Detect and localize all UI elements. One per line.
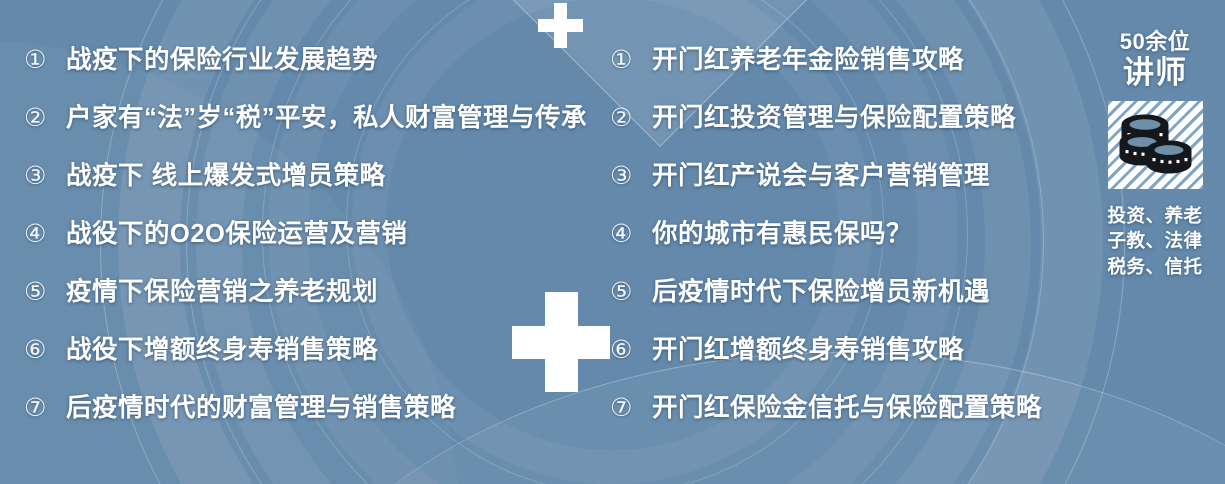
course-item[interactable]: ④ 战役下的O2O保险运营及营销 — [24, 213, 592, 271]
course-number: ② — [610, 103, 652, 133]
course-item[interactable]: ④ 你的城市有惠民保吗？ — [610, 213, 1085, 271]
course-item[interactable]: ② 开门红投资管理与保险配置策略 — [610, 97, 1085, 155]
course-list-banner: ① 战疫下的保险行业发展趋势 ② 户家有“法”岁“税”平安，私人财富管理与传承 … — [0, 0, 1225, 484]
course-item[interactable]: ⑦ 后疫情时代的财富管理与销售策略 — [24, 387, 592, 445]
course-title: 开门红投资管理与保险配置策略 — [652, 97, 1016, 134]
course-number: ⑤ — [610, 277, 652, 307]
course-title: 后疫情时代的财富管理与销售策略 — [66, 387, 456, 424]
course-item[interactable]: ② 户家有“法”岁“税”平安，私人财富管理与传承 — [24, 97, 592, 155]
lecturer-categories: 投资、养老 子教、法律 税务、信托 — [1107, 203, 1202, 280]
course-number: ② — [24, 103, 66, 133]
course-item[interactable]: ⑥ 战役下增额终身寿销售策略 — [24, 329, 592, 387]
course-title: 户家有“法”岁“税”平安，私人财富管理与传承 — [66, 97, 587, 134]
course-number: ⑦ — [24, 393, 66, 423]
lecturer-sidebar: 50余位 讲师 — [1085, 0, 1225, 484]
course-title: 战役下增额终身寿销售策略 — [66, 329, 378, 366]
course-number: ⑥ — [24, 335, 66, 365]
course-number: ④ — [24, 219, 66, 249]
course-number: ③ — [610, 161, 652, 191]
course-number: ⑦ — [610, 393, 652, 423]
course-number: ① — [610, 45, 652, 75]
course-title: 开门红产说会与客户营销管理 — [652, 155, 990, 192]
lecturer-count-label: 50余位 — [1120, 30, 1190, 54]
course-item[interactable]: ⑤ 后疫情时代下保险增员新机遇 — [610, 271, 1085, 329]
course-item[interactable]: ⑦ 开门红保险金信托与保险配置策略 — [610, 387, 1085, 445]
course-number: ③ — [24, 161, 66, 191]
course-title: 你的城市有惠民保吗？ — [652, 213, 912, 250]
course-column-right: ① 开门红养老年金险销售攻略 ② 开门红投资管理与保险配置策略 ③ 开门红产说会… — [592, 0, 1085, 484]
course-title: 战役下的O2O保险运营及营销 — [66, 213, 407, 250]
course-item[interactable]: ① 战疫下的保险行业发展趋势 — [24, 39, 592, 97]
course-title: 开门红增额终身寿销售攻略 — [652, 329, 964, 366]
course-number: ④ — [610, 219, 652, 249]
category-line-1: 投资、养老 — [1107, 203, 1202, 229]
course-item[interactable]: ① 开门红养老年金险销售攻略 — [610, 39, 1085, 97]
category-line-2: 子教、法律 — [1107, 228, 1202, 254]
course-number: ⑤ — [24, 277, 66, 307]
course-title: 开门红养老年金险销售攻略 — [652, 39, 964, 76]
course-item[interactable]: ③ 开门红产说会与客户营销管理 — [610, 155, 1085, 213]
course-columns: ① 战疫下的保险行业发展趋势 ② 户家有“法”岁“税”平安，私人财富管理与传承 … — [0, 0, 1085, 484]
course-item[interactable]: ③ 战疫下 线上爆发式增员策略 — [24, 155, 592, 213]
course-item[interactable]: ⑥ 开门红增额终身寿销售攻略 — [610, 329, 1085, 387]
course-column-left: ① 战疫下的保险行业发展趋势 ② 户家有“法”岁“税”平安，私人财富管理与传承 … — [0, 0, 592, 484]
course-title: 战疫下的保险行业发展趋势 — [66, 39, 378, 76]
course-item[interactable]: ⑤ 疫情下保险营销之养老规划 — [24, 271, 592, 329]
course-title: 疫情下保险营销之养老规划 — [66, 271, 378, 308]
course-number: ① — [24, 45, 66, 75]
course-title: 战疫下 线上爆发式增员策略 — [66, 155, 386, 192]
category-line-3: 税务、信托 — [1107, 254, 1202, 280]
lecturer-role-label: 讲师 — [1123, 55, 1187, 91]
coin-stack-icon — [1108, 101, 1203, 189]
course-number: ⑥ — [610, 335, 652, 365]
course-title: 开门红保险金信托与保险配置策略 — [652, 387, 1042, 424]
course-title: 后疫情时代下保险增员新机遇 — [652, 271, 990, 308]
